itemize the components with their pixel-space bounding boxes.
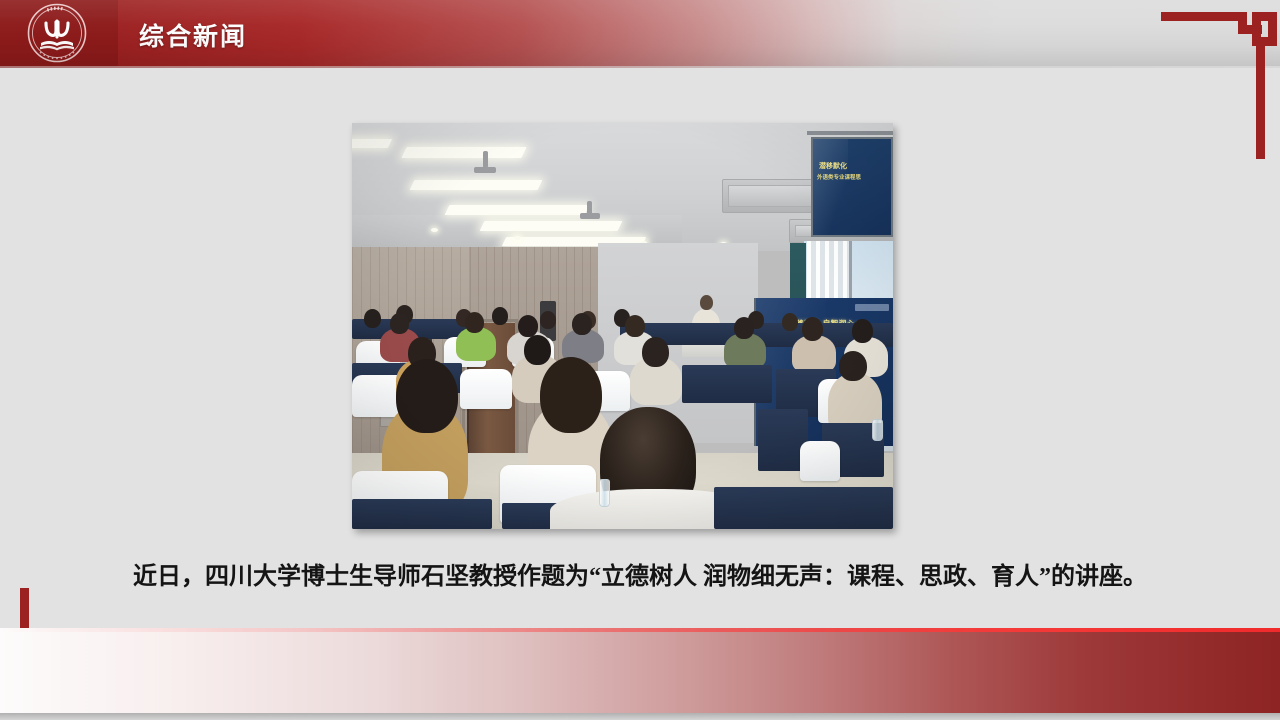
chair	[460, 369, 512, 409]
photo-caption: 近日，四川大学博士生导师石坚教授作题为“立德树人 润物细无声：课程、思政、育人”…	[0, 556, 1280, 591]
footer-shadow	[0, 713, 1280, 720]
attendee-head	[524, 335, 551, 365]
secondary-display-title: 潜移默化	[819, 161, 847, 171]
header-underline	[0, 66, 1280, 68]
attendee-head	[734, 317, 754, 339]
attendee-head	[642, 337, 669, 367]
water-bottle	[872, 419, 883, 441]
photo-content: 潜移默化 外语类专业课程思 潜移默化 启智润心： 外语类专业课程思政建设与人才培…	[352, 123, 893, 529]
attendee-head	[540, 357, 602, 433]
ceiling-light	[352, 139, 392, 148]
ornament-top-right-icon	[1145, 0, 1280, 190]
downlight	[514, 236, 521, 240]
attendee-head	[802, 317, 823, 341]
attendee-head	[572, 313, 592, 335]
banner-rod	[807, 131, 893, 135]
display-glare	[811, 139, 848, 235]
speaker-head	[700, 295, 713, 310]
ceiling-light	[401, 147, 526, 158]
attendee-head	[396, 359, 458, 433]
projector	[483, 151, 488, 168]
university-seal-icon	[27, 3, 87, 63]
downlight	[431, 228, 438, 232]
screen-corner-tag	[855, 304, 889, 311]
attendee-head	[852, 319, 873, 343]
attendee-head	[390, 313, 409, 334]
page-header: 综合新闻	[0, 0, 1280, 66]
table	[352, 499, 492, 529]
attendee-head	[518, 315, 538, 337]
table	[714, 487, 893, 529]
chair	[800, 441, 840, 481]
attendee-head	[782, 313, 798, 331]
attendee-head	[625, 315, 645, 337]
footer-band	[0, 628, 1280, 713]
projector	[474, 167, 496, 173]
ceiling-light	[480, 221, 623, 231]
attendee-head	[839, 351, 867, 381]
secondary-display-subtitle: 外语类专业课程思	[817, 173, 861, 181]
ceiling-light	[410, 180, 543, 190]
attendee-head	[492, 307, 508, 325]
projector	[580, 213, 600, 219]
attendee-head	[364, 309, 381, 328]
water-bottle	[599, 479, 610, 507]
slide-root: 综合新闻	[0, 0, 1280, 720]
attendee-head	[465, 312, 484, 333]
news-photo: 潜移默化 外语类专业课程思 潜移默化 启智润心： 外语类专业课程思政建设与人才培…	[352, 123, 893, 529]
page-title: 综合新闻	[139, 17, 247, 53]
ceiling-light	[445, 205, 590, 215]
secondary-display: 潜移默化 外语类专业课程思	[811, 137, 893, 237]
attendee-head	[540, 311, 556, 329]
table	[682, 365, 772, 403]
footer-accent-line	[0, 628, 1280, 632]
